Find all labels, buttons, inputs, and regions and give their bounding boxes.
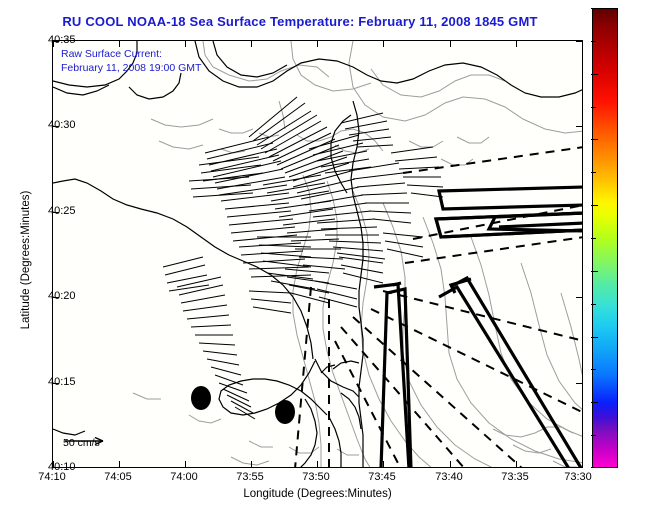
y-tick [576,41,582,42]
x-tick [582,461,583,467]
y-tick-label: 40:20 [48,290,76,302]
colorbar-tick [591,139,598,140]
y-tick-label: 40:25 [48,205,76,217]
x-tick-label: 73:30 [564,471,592,483]
x-tick-label: 73:55 [236,471,264,483]
colorbar-tick-minor [591,172,596,173]
map-graphics [53,41,583,468]
y-tick-label: 40:10 [48,461,76,473]
map-canvas: Raw Surface Current: February 11, 2008 1… [53,41,582,467]
x-tick [582,41,583,47]
x-tick-label: 73:35 [501,471,529,483]
colorbar-tick-minor [591,41,596,42]
colorbar-tick [591,337,598,338]
x-tick [317,461,318,467]
x-tick-label: 73:45 [368,471,396,483]
x-tick [185,41,186,47]
colorbar-tick-minor [591,369,596,370]
colorbar-tick [591,467,598,468]
y-tick [576,297,582,298]
current-annotation: Raw Surface Current: February 11, 2008 1… [61,47,201,75]
x-tick [516,461,517,467]
colorbar-tick [591,8,598,9]
x-tick [450,41,451,47]
colorbar-tick [591,402,598,403]
colorbar-tick-minor [591,304,596,305]
colorbar: 20 19 18 17 16 15 14 13 [592,8,618,468]
sst-map-figure: RU COOL NOAA-18 Sea Surface Temperature:… [0,0,651,518]
station-marker [275,400,295,424]
colorbar-tick [591,74,598,75]
colorbar-tick-minor [591,107,596,108]
map-plot-area: Raw Surface Current: February 11, 2008 1… [52,40,583,468]
x-axis-title: Longitude (Degrees:Minutes) [52,488,583,500]
colorbar-tick [591,205,598,206]
annotation-line-2: February 11, 2008 19:00 GMT [61,61,201,75]
y-tick [576,126,582,127]
x-tick [383,461,384,467]
x-tick-label: 73:40 [435,471,463,483]
colorbar-tick-minor [591,238,596,239]
x-tick-label: 73:50 [302,471,330,483]
y-axis-title: Latitude (Degrees:Minutes) [20,150,32,370]
colorbar-tick-minor [591,435,596,436]
colorbar-tick [591,271,598,272]
right-arrow-icon [63,435,113,447]
y-tick [576,383,582,384]
velocity-scale-key: 50 cm/s [63,433,100,451]
y-tick-label: 40:35 [48,34,76,46]
x-tick [450,461,451,467]
annotation-line-1: Raw Surface Current: [61,47,201,61]
coastline [53,41,583,468]
x-tick [119,41,120,47]
figure-title: RU COOL NOAA-18 Sea Surface Temperature:… [0,14,600,29]
x-tick [185,461,186,467]
x-tick [383,41,384,47]
x-tick [251,461,252,467]
y-tick-label: 40:30 [48,119,76,131]
x-tick [251,41,252,47]
x-tick-label: 74:05 [104,471,132,483]
y-tick-label: 40:15 [48,376,76,388]
x-tick-label: 74:00 [170,471,198,483]
x-tick [119,461,120,467]
station-marker [191,386,211,410]
y-tick [576,212,582,213]
x-tick [317,41,318,47]
x-tick [516,41,517,47]
